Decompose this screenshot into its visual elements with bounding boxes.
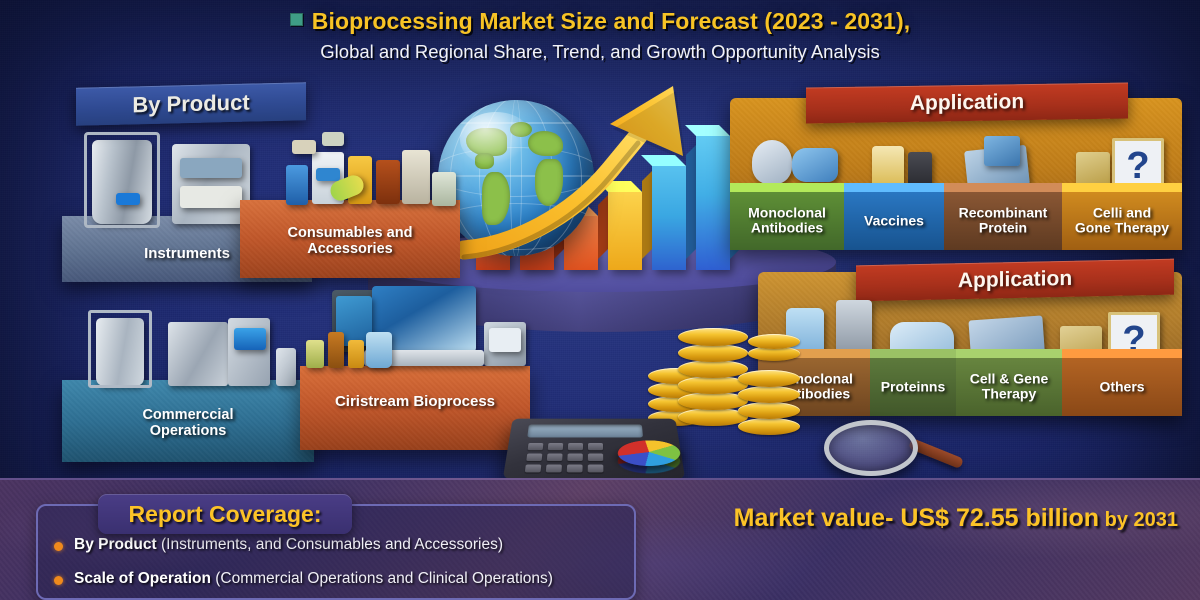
application-banner-bottom-label: Application	[856, 259, 1174, 302]
calculator-key	[568, 443, 583, 450]
by-product-banner: By Product	[76, 82, 306, 126]
report-coverage-label: Report Coverage:	[98, 494, 352, 534]
magnifier-lens	[824, 420, 918, 476]
magnifier-icon	[824, 412, 964, 484]
platform-label-clinical: Ciristream Bioprocess	[300, 394, 530, 410]
platform-commercial-operations[interactable]: Commerccial Operations	[62, 380, 314, 462]
application-banner-top: Application	[806, 82, 1128, 123]
calculator-key	[588, 465, 604, 473]
title-main-text: Bioprocessing Market Size and Forecast (…	[312, 8, 910, 34]
calculator-key	[588, 443, 603, 450]
app-segment-monoclonal-antibodies[interactable]: Monoclonal Antibodies	[730, 192, 844, 250]
unit-window-icon	[180, 158, 242, 178]
calculator-key	[528, 443, 544, 450]
app-segment-label: Monoclonal Antibodies	[730, 206, 844, 237]
page-title: Bioprocessing Market Size and Forecast (…	[0, 8, 1200, 63]
coverage-item-rest: (Instruments, and Consumables and Access…	[157, 536, 503, 553]
title-subtitle: Global and Regional Share, Trend, and Gr…	[0, 41, 1200, 63]
coin-stack-icon	[748, 332, 802, 372]
app-segment-vaccines[interactable]: Vaccines	[844, 192, 944, 250]
application-banner-bottom: Application	[856, 259, 1174, 302]
small-tank-icon	[276, 348, 296, 386]
chromatography-unit-icon	[172, 144, 250, 224]
by-product-label: By Product	[76, 82, 306, 126]
control-screen-icon	[234, 328, 266, 350]
cap-icon	[292, 140, 316, 154]
vial-icon	[348, 340, 364, 368]
calculator-key	[547, 454, 563, 462]
processing-unit-icon	[168, 322, 228, 386]
app-segment-label: Celli and Gone Therapy	[1062, 206, 1182, 237]
calculator-key	[525, 465, 541, 473]
flask-icon	[366, 332, 392, 368]
bottle-icon	[376, 160, 400, 204]
jar-icon	[402, 150, 430, 204]
green-square-bullet-icon	[290, 13, 303, 26]
device-icon	[792, 148, 838, 182]
pie-chart-icon	[618, 428, 680, 476]
growth-arrow-icon	[460, 78, 720, 268]
coverage-item-rest: (Commercial Operations and Clinical Oper…	[211, 570, 553, 587]
app-segment-label: Others	[1062, 379, 1182, 394]
coverage-item: Scale of Operation (Commercial Operation…	[74, 570, 553, 588]
unit-panel-icon	[180, 186, 242, 208]
vial-icon	[306, 340, 324, 368]
app-segment-cell-gene-therapy[interactable]: Celli and Gone Therapy	[1062, 192, 1182, 250]
coverage-item-bold: Scale of Operation	[74, 570, 211, 587]
vaccine-jar-icon	[872, 146, 904, 188]
jar-icon	[432, 172, 456, 206]
calculator-key	[567, 465, 583, 473]
calculator-key	[548, 443, 564, 450]
bottle-icon	[286, 165, 308, 205]
app-segment-cell-gene-therapy-2[interactable]: Cell & Gene Therapy	[956, 358, 1062, 416]
app-segment-recombinant-protein[interactable]: Recombinant Protein	[944, 192, 1062, 250]
bioreactor-frame-icon	[88, 310, 152, 388]
platform-clinical-bioprocess[interactable]: Ciristream Bioprocess	[300, 366, 530, 450]
calculator-key	[526, 454, 542, 462]
market-value-text: Market value- US$ 72.55 billion by 2031	[734, 504, 1178, 533]
calculator-key	[567, 454, 583, 462]
coverage-item: By Product (Instruments, and Consumables…	[74, 536, 503, 554]
vial-icon	[328, 332, 344, 368]
protein-device-icon	[984, 136, 1020, 166]
cap-icon	[322, 132, 344, 146]
instrument-display-icon	[116, 193, 140, 205]
app-segment-label: Proteinns	[870, 379, 956, 394]
application-banner-top-label: Application	[806, 82, 1128, 123]
bullet-dot-icon	[54, 542, 63, 551]
title-line-1: Bioprocessing Market Size and Forecast (…	[0, 8, 1200, 35]
antibody-icon	[752, 140, 792, 184]
report-coverage-tab: Report Coverage:	[98, 494, 352, 534]
app-segment-label: Cell & Gene Therapy	[956, 372, 1062, 403]
coverage-item-bold: By Product	[74, 536, 157, 553]
app-segment-proteins[interactable]: Proteinns	[870, 358, 956, 416]
bioreactor-frame-icon	[84, 132, 160, 228]
app-segment-label: Recombinant Protein	[944, 206, 1062, 237]
platform-label-consumables: Consumables and Accessories	[240, 226, 460, 257]
application-top-segments: Monoclonal Antibodies Vaccines Recombina…	[730, 192, 1182, 250]
monitor-screen-icon	[489, 328, 521, 352]
app-segment-label: Vaccines	[844, 213, 944, 228]
market-value-suffix: by 2031	[1099, 509, 1178, 531]
platform-label-commercial: Commerccial Operations	[62, 408, 314, 439]
calculator-key	[546, 465, 562, 473]
platform-consumables[interactable]: Consumables and Accessories	[240, 200, 460, 278]
application-bottom-segments: Monoclonal Antibodies Proteinns Cell & G…	[758, 358, 1182, 416]
calculator-key	[588, 454, 603, 462]
market-value-main: Market value- US$ 72.55 billion	[734, 504, 1099, 532]
bullet-dot-icon	[54, 576, 63, 585]
infographic-canvas: Bioprocessing Market Size and Forecast (…	[0, 0, 1200, 600]
app-segment-others[interactable]: Others	[1062, 358, 1182, 416]
bottle-label-icon	[316, 168, 340, 181]
